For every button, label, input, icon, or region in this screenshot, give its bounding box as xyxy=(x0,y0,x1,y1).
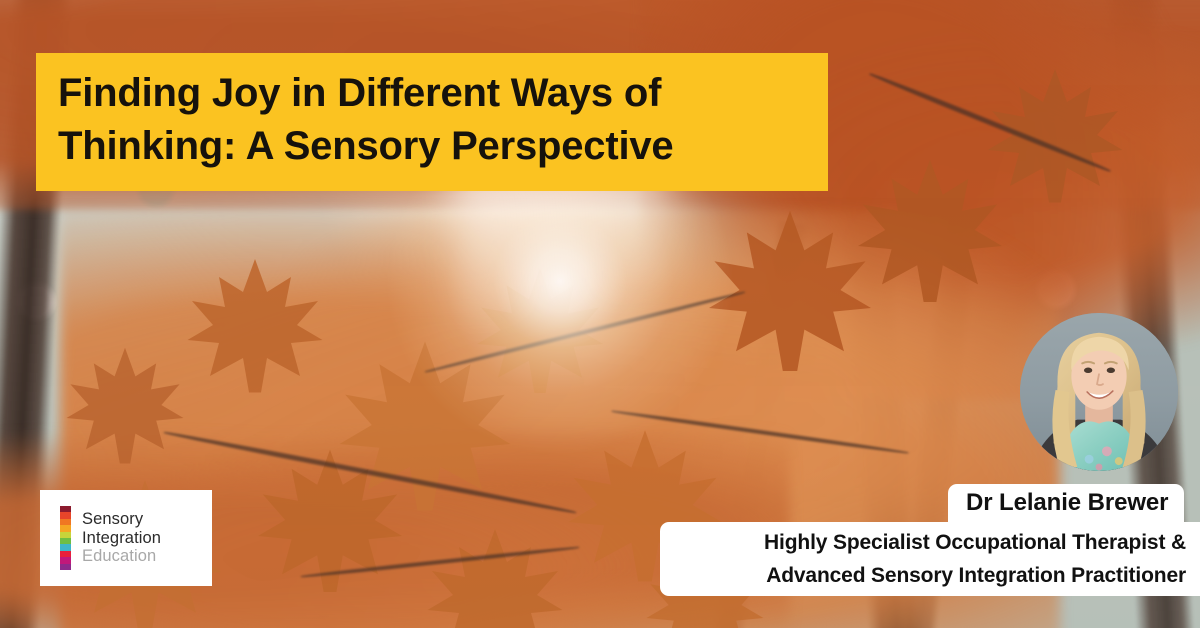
speaker-name-pill: Dr Lelanie Brewer xyxy=(948,484,1184,522)
speaker-role-block: Highly Specialist Occupational Therapist… xyxy=(660,522,1200,596)
logo-line-sensory: Sensory xyxy=(82,510,161,529)
logo-line-education: Education xyxy=(82,547,161,566)
speaker-name: Dr Lelanie Brewer xyxy=(966,489,1168,517)
title-banner: Finding Joy in Different Ways of Thinkin… xyxy=(36,53,828,191)
speaker-role-line-2: Advanced Sensory Integration Practitione… xyxy=(766,559,1186,592)
title-line-2: Thinking: A Sensory Perspective xyxy=(58,120,806,173)
logo-sensory-integration-education[interactable]: Sensory Integration Education xyxy=(40,490,212,586)
avatar-portrait-illustration xyxy=(1020,313,1178,471)
promo-banner-canvas: Finding Joy in Different Ways of Thinkin… xyxy=(0,0,1200,628)
speaker-role-line-1: Highly Specialist Occupational Therapist… xyxy=(764,526,1186,559)
logo-wordmark: Sensory Integration Education xyxy=(82,510,161,566)
logo-line-integration: Integration xyxy=(82,529,161,548)
logo-color-bar-icon xyxy=(60,506,71,570)
title-line-1: Finding Joy in Different Ways of xyxy=(58,67,806,120)
speaker-avatar xyxy=(1020,313,1178,471)
